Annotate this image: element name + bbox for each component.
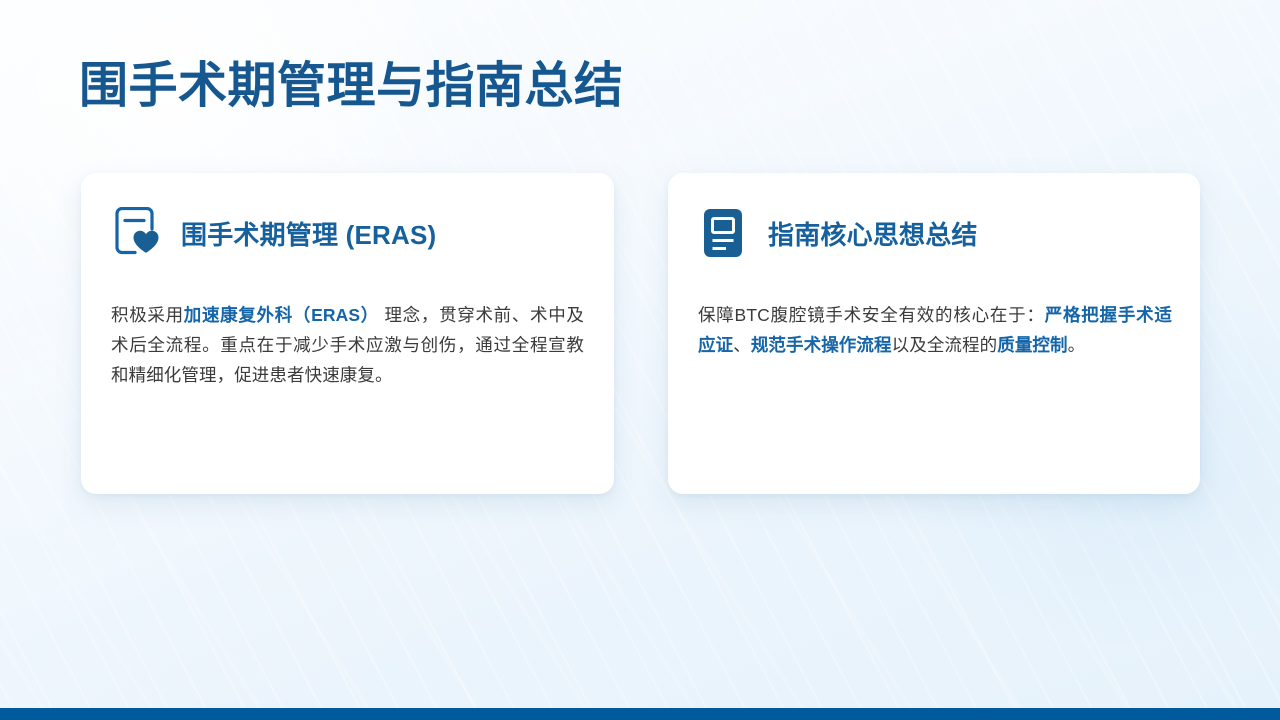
page-title: 围手术期管理与指南总结 [79, 56, 624, 116]
clipboard-heart-icon [111, 207, 161, 259]
card-title: 围手术期管理 (ERAS) [181, 215, 436, 252]
card-header: 围手术期管理 (ERAS) [111, 205, 436, 261]
card-perioperative-management: 围手术期管理 (ERAS) 积极采用加速康复外科（ERAS） 理念，贯穿术前、术… [81, 173, 614, 494]
card-title: 指南核心思想总结 [768, 215, 978, 252]
card-header: 指南核心思想总结 [698, 205, 978, 261]
card-body-text: 保障BTC腹腔镜手术安全有效的核心在于：严格把握手术适应证、规范手术操作流程以及… [698, 300, 1172, 360]
card-body-text: 积极采用加速康复外科（ERAS） 理念，贯穿术前、术中及术后全流程。重点在于减少… [111, 300, 584, 390]
document-summary-icon [698, 207, 748, 259]
slide-root: 围手术期管理与指南总结 围手术期管理 (ERAS) 积极采用加速康复外科（ERA… [0, 0, 1280, 720]
bottom-accent-bar [0, 708, 1280, 720]
card-guideline-summary: 指南核心思想总结 保障BTC腹腔镜手术安全有效的核心在于：严格把握手术适应证、规… [668, 173, 1200, 494]
